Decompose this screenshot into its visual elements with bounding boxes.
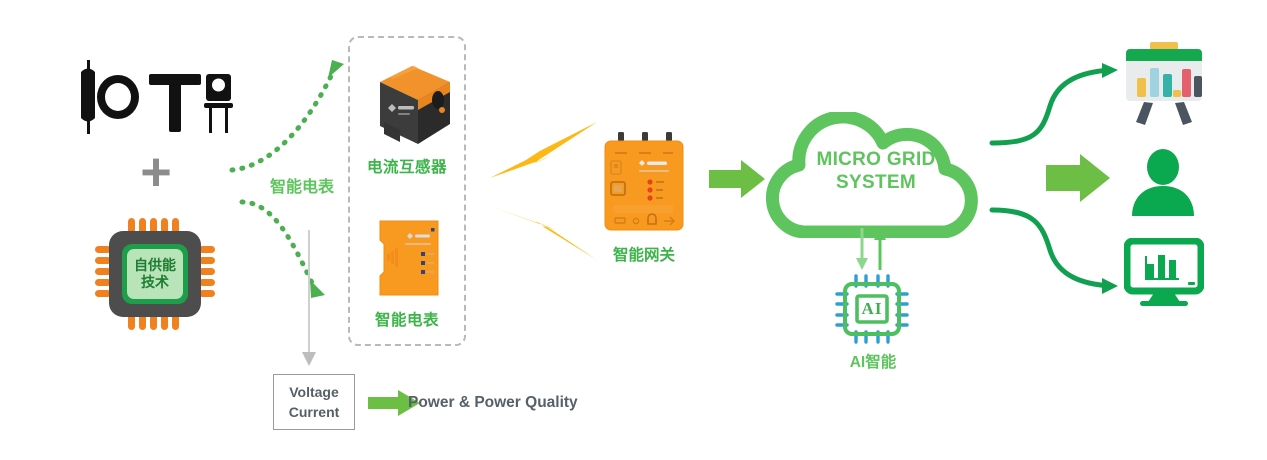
current-transformer-device: [366, 60, 458, 148]
ai-chip-icon: AI: [835, 274, 909, 344]
chart-board-icon: [1118, 40, 1210, 130]
device-label-current-transformer: 电流互感器: [348, 155, 466, 177]
plus-symbol: +: [133, 150, 179, 196]
smart-meter-device: [376, 218, 442, 298]
cloud-title: MICRO GRID SYSTEM: [763, 148, 989, 194]
monitor-icon: [1124, 238, 1204, 308]
diagram-canvas: +: [0, 0, 1267, 460]
cloud-output-arrows: [988, 58, 1128, 298]
cloud-ai-bidirectional-arrows: [848, 228, 896, 270]
smart-gateway-device: [601, 132, 687, 234]
user-icon: [1130, 148, 1196, 222]
current-label: Current: [289, 402, 340, 422]
ai-chip-text: AI: [862, 299, 883, 319]
voltage-current-box: Voltage Current: [273, 374, 355, 430]
wireless-lightning-icons: [482, 118, 612, 260]
dotted-connector-arrows: [228, 50, 358, 350]
ai-label: AI智能: [818, 350, 928, 372]
cloud-title-line1: MICRO GRID: [816, 149, 935, 170]
iot-logo: [75, 58, 235, 136]
voltage-current-down-arrow: [300, 230, 318, 368]
connector-label-smart-meter: 智能电表: [270, 173, 334, 197]
voltage-label: Voltage: [289, 382, 339, 402]
chip-label-line1: 自供能: [134, 257, 176, 274]
device-label-smart-meter: 智能电表: [348, 308, 466, 330]
chip-label-line2: 技术: [141, 274, 169, 291]
legend-output-label: Power & Power Quality: [408, 394, 578, 412]
arrow-gateway-to-cloud: [709, 160, 765, 198]
self-powered-chip-icon: 自供能 技术: [95, 218, 215, 330]
cloud-title-line2: SYSTEM: [836, 172, 916, 193]
gateway-label: 智能网关: [592, 243, 696, 265]
